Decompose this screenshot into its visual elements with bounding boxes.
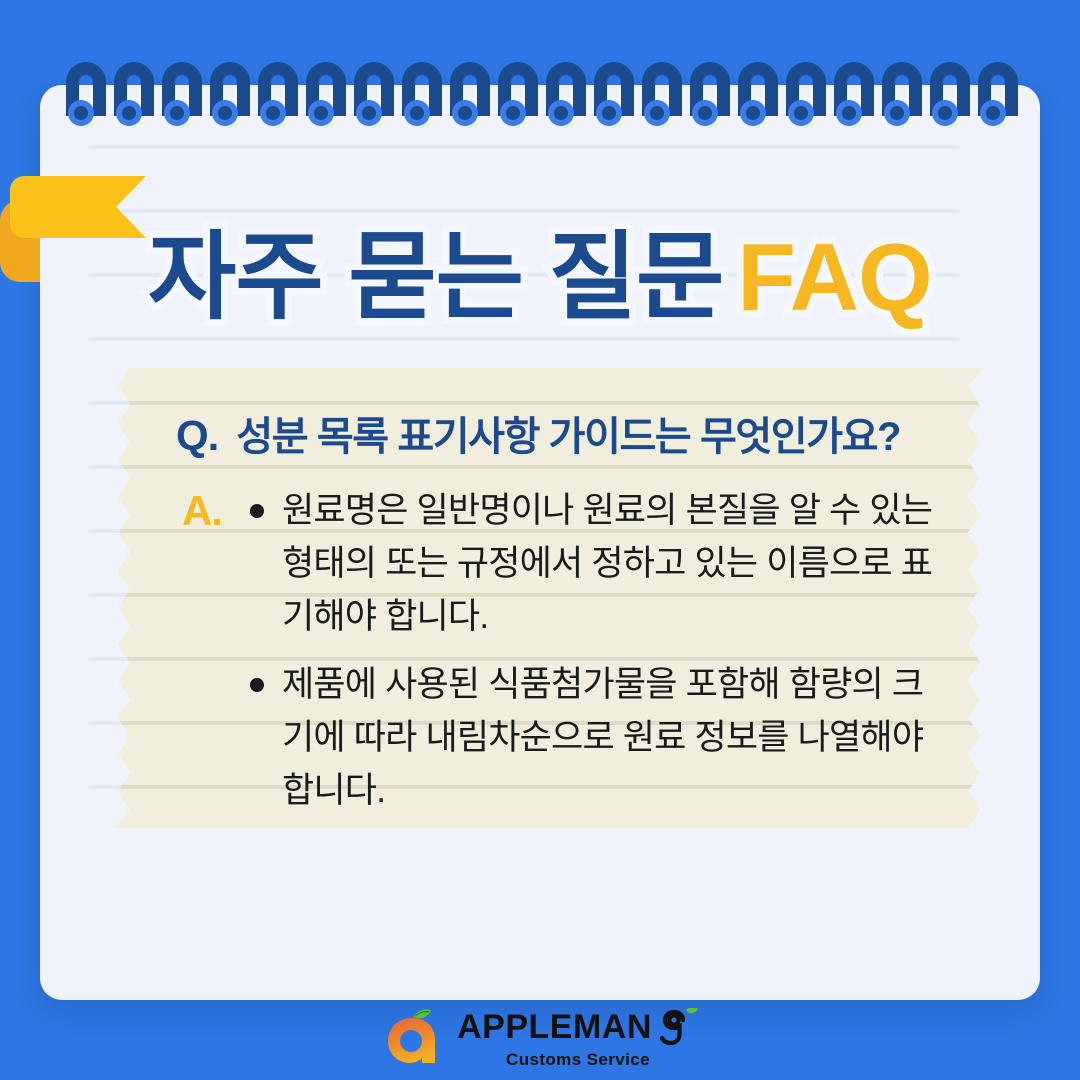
brand-tagline: Customs Service <box>506 1050 650 1070</box>
bullet-dot-icon <box>250 504 264 518</box>
brand-name: APPLEMAN <box>457 1010 652 1044</box>
brand-name-row: APPLEMAN <box>457 1008 699 1046</box>
answer-bullet-text: 원료명은 일반명이나 원료의 본질을 알 수 있는 형태의 또는 규정에서 정하… <box>282 484 950 644</box>
question-text: 성분 목록 표기사항 가이드는 무엇인가요? <box>236 404 900 462</box>
question-marker: Q. <box>176 412 218 460</box>
answer-bullet-list: 원료명은 일반명이나 원료의 본질을 알 수 있는 형태의 또는 규정에서 정하… <box>250 484 950 831</box>
footer-brand: APPLEMAN Customs Service <box>0 1004 1080 1074</box>
logo-lockup: APPLEMAN Customs Service <box>381 1008 699 1070</box>
list-item: 제품에 사용된 식품첨가물을 포함해 함량의 크기에 따라 내림차순으로 원료 … <box>250 658 950 818</box>
faq-content: Q. 성분 목록 표기사항 가이드는 무엇인가요? A. 원료명은 일반명이나 … <box>0 0 1080 1080</box>
answer-marker: A. <box>182 487 222 535</box>
applemango-a-logo-icon <box>381 1009 443 1069</box>
list-item: 원료명은 일반명이나 원료의 본질을 알 수 있는 형태의 또는 규정에서 정하… <box>250 484 950 644</box>
brand-suffix-go-icon <box>653 1008 699 1046</box>
faq-question-row: Q. 성분 목록 표기사항 가이드는 무엇인가요? <box>176 404 900 462</box>
bullet-dot-icon <box>250 678 264 692</box>
logo-text-block: APPLEMAN Customs Service <box>457 1008 699 1070</box>
faq-card: 자주 묻는 질문FAQ Q. 성분 목록 표기사항 가이드는 무엇인가요? A.… <box>0 0 1080 1080</box>
answer-bullet-text: 제품에 사용된 식품첨가물을 포함해 함량의 크기에 따라 내림차순으로 원료 … <box>282 658 950 818</box>
